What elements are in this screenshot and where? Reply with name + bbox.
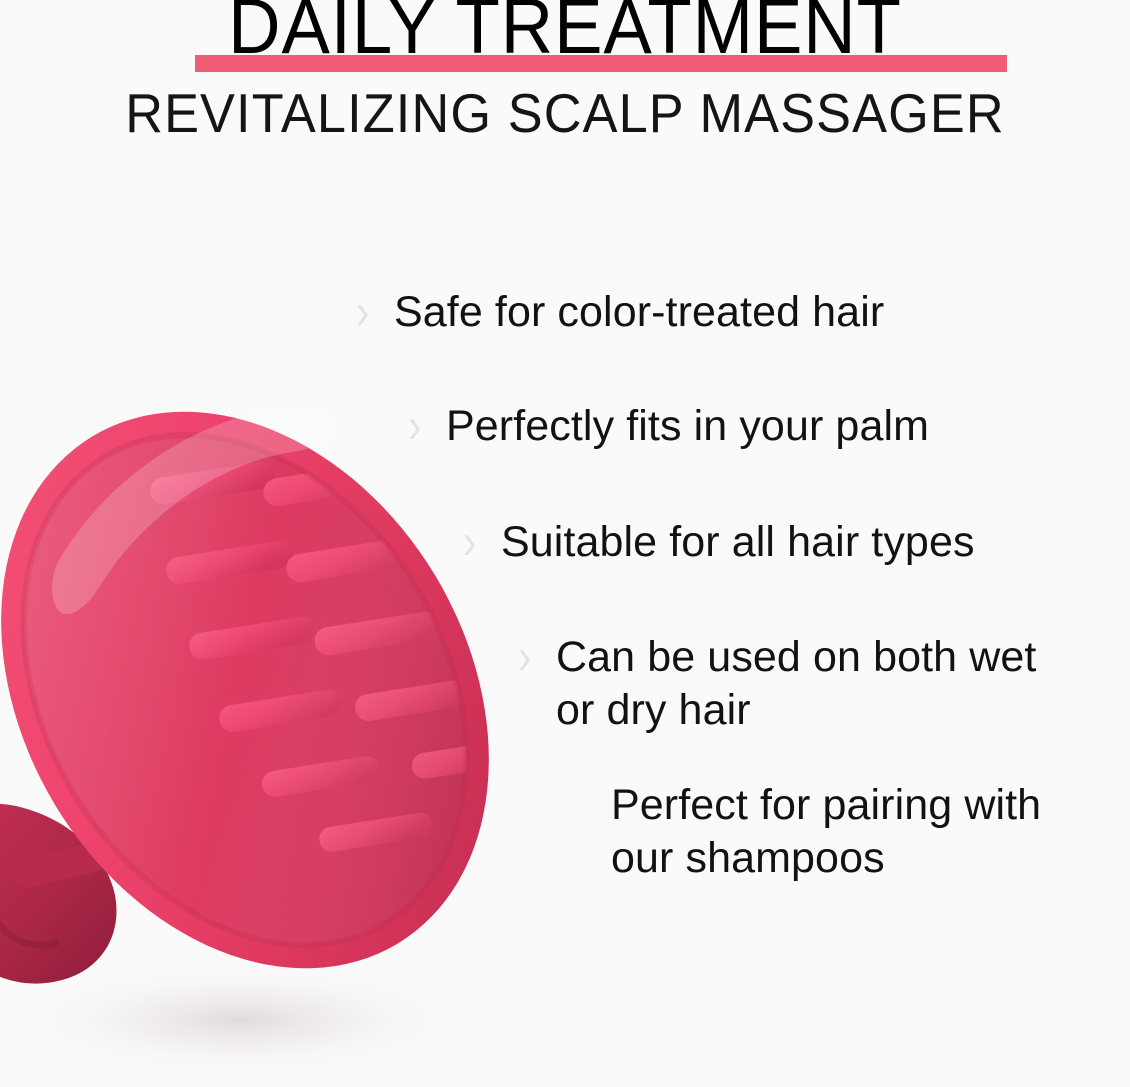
list-item: Perfect for pairing with our shampoos [573,779,1041,885]
list-item: › Safe for color-treated hair [356,286,884,339]
product-feature-poster: DAILY TREATMENT REVITALIZING SCALP MASSA… [0,0,1130,1087]
chevron-right-icon: › [518,625,556,690]
page-subtitle: REVITALIZING SCALP MASSAGER [28,82,1102,144]
list-item: › Can be used on both wet or dry hair [518,631,1036,737]
chevron-right-icon: › [463,510,501,575]
feature-text: Perfect for pairing with our shampoos [611,779,1041,885]
list-item: › Perfectly fits in your palm [408,400,929,453]
page-title: DAILY TREATMENT [40,0,1091,66]
feature-text: Suitable for all hair types [501,516,975,569]
feature-text: Can be used on both wet or dry hair [556,631,1036,737]
chevron-right-icon: › [356,280,394,345]
product-drop-shadow [0,958,490,1082]
list-item: › Suitable for all hair types [463,516,975,569]
feature-text: Perfectly fits in your palm [446,400,929,453]
feature-list: › Safe for color-treated hair › Perfectl… [0,286,1130,906]
headline-wrap: DAILY TREATMENT [0,0,1130,80]
feature-text: Safe for color-treated hair [394,286,884,339]
header: DAILY TREATMENT REVITALIZING SCALP MASSA… [0,0,1130,150]
chevron-right-icon: › [408,394,446,459]
